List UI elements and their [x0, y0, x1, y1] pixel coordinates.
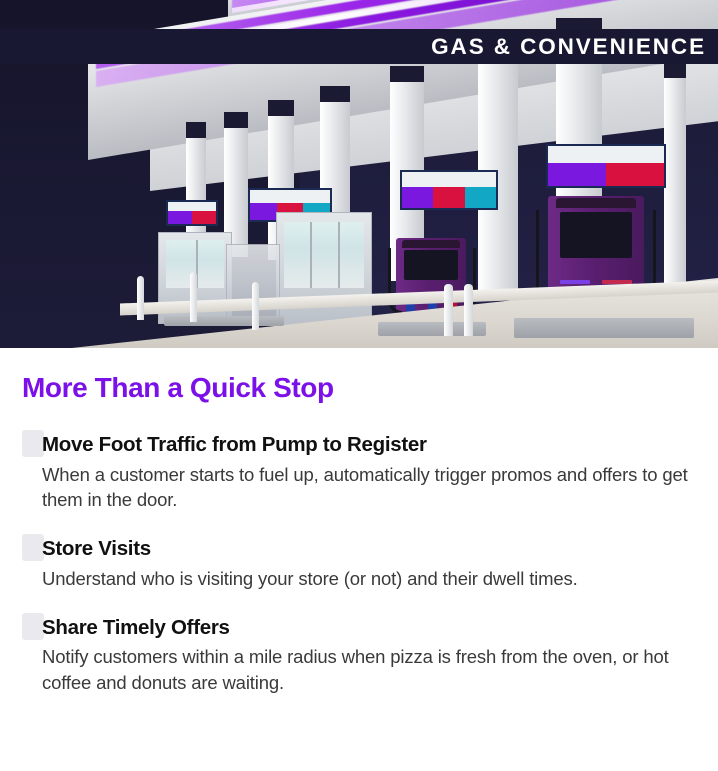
- pump-signage-panel: [546, 144, 666, 188]
- sign-color-bands: [168, 211, 216, 224]
- sign-white-band: [548, 146, 664, 163]
- pump-hood: [402, 240, 460, 248]
- sign-white-band: [402, 172, 496, 187]
- pump-island: [514, 318, 694, 338]
- kiosk-glass-panel: [284, 222, 364, 288]
- sign-white-band: [168, 202, 216, 211]
- sign-red: [606, 163, 664, 186]
- safety-bollard: [444, 284, 453, 336]
- hero-image: GAS & CONVENIENCE: [0, 0, 718, 348]
- pump-signage-panel: [400, 170, 498, 210]
- feature-item: Store Visits Understand who is visiting …: [22, 536, 698, 591]
- sign-purple: [168, 211, 192, 224]
- pump-display-screen: [404, 250, 458, 280]
- page-root: GAS & CONVENIENCE More Than a Quick Stop…: [0, 0, 718, 771]
- kiosk-mullion: [338, 222, 340, 288]
- safety-bollard: [137, 276, 144, 320]
- sign-color-bands: [402, 187, 496, 208]
- feature-body: When a customer starts to fuel up, autom…: [42, 462, 698, 512]
- sign-purple: [548, 163, 606, 186]
- canopy-column: [664, 62, 686, 314]
- safety-bollard: [252, 282, 259, 330]
- feature-title: Share Timely Offers: [42, 615, 698, 641]
- sign-white-band: [250, 190, 330, 203]
- sign-purple: [402, 187, 433, 208]
- feature-title: Store Visits: [42, 536, 698, 562]
- feature-title: Move Foot Traffic from Pump to Register: [42, 432, 698, 458]
- content-area: More Than a Quick Stop Move Foot Traffic…: [0, 348, 718, 695]
- hero-banner-title: GAS & CONVENIENCE: [431, 34, 718, 60]
- canopy-column: [478, 40, 518, 295]
- feature-item: Move Foot Traffic from Pump to Register …: [22, 432, 698, 512]
- pump-display-screen: [560, 212, 632, 258]
- safety-bollard: [190, 272, 197, 322]
- feature-body: Understand who is visiting your store (o…: [42, 566, 698, 591]
- pump-grade-stripe: [560, 280, 590, 284]
- sign-cyan: [465, 187, 496, 208]
- sign-purple: [250, 203, 277, 220]
- hero-banner-band: GAS & CONVENIENCE: [0, 29, 718, 64]
- bullet-marker-icon: [22, 613, 44, 640]
- section-title: More Than a Quick Stop: [22, 372, 698, 404]
- sign-red: [192, 211, 216, 224]
- bullet-marker-icon: [22, 534, 44, 561]
- sign-red: [433, 187, 464, 208]
- bullet-marker-icon: [22, 430, 44, 457]
- safety-bollard: [464, 284, 473, 336]
- pump-hood: [556, 198, 636, 208]
- kiosk-mullion: [310, 222, 312, 288]
- sign-color-bands: [548, 163, 664, 186]
- feature-item: Share Timely Offers Notify customers wit…: [22, 615, 698, 695]
- pump-signage-panel: [166, 200, 218, 226]
- feature-body: Notify customers within a mile radius wh…: [42, 644, 698, 694]
- pump-island: [164, 316, 284, 326]
